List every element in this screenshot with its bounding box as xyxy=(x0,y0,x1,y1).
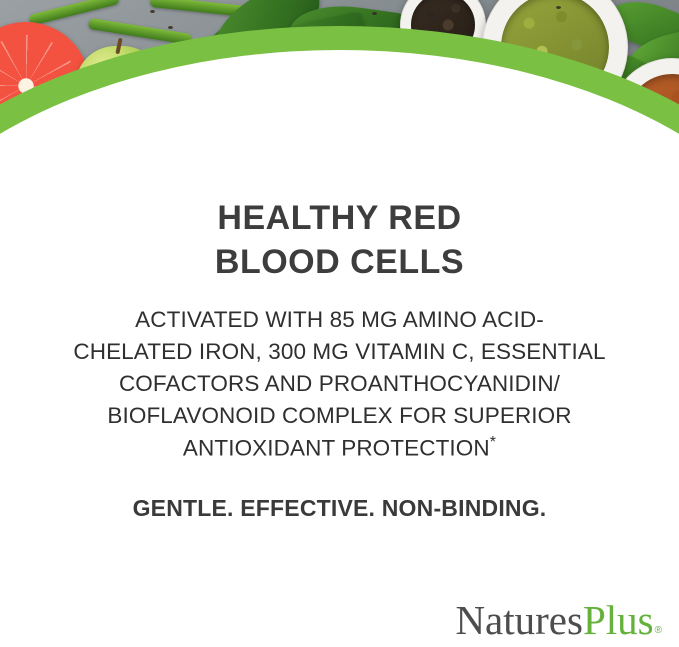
benefit-description: ACTIVATED WITH 85 MG AMINO ACID- CHELATE… xyxy=(30,304,650,464)
subcopy-line-3: COFACTORS AND PROANTHOCYANIDIN/ xyxy=(30,368,650,400)
logo-natures-text: Natures xyxy=(455,597,583,643)
subcopy-line-5: ANTIOXIDANT PROTECTION* xyxy=(30,432,650,464)
subcopy-line-5-text: ANTIOXIDANT PROTECTION xyxy=(183,436,490,461)
product-benefit-card: HEALTHY RED BLOOD CELLS ACTIVATED WITH 8… xyxy=(0,0,679,647)
page-title: HEALTHY RED BLOOD CELLS xyxy=(215,196,464,284)
headline-line-2: BLOOD CELLS xyxy=(215,240,464,284)
brand-logo[interactable]: NaturesPlus® xyxy=(455,600,661,641)
logo-plus-text: Plus xyxy=(583,597,654,643)
registered-trademark-icon: ® xyxy=(655,625,662,636)
text-content-area: HEALTHY RED BLOOD CELLS ACTIVATED WITH 8… xyxy=(0,0,679,647)
subcopy-line-4: BIOFLAVONOID COMPLEX FOR SUPERIOR xyxy=(30,400,650,432)
subcopy-line-1: ACTIVATED WITH 85 MG AMINO ACID- xyxy=(30,304,650,336)
subcopy-line-2: CHELATED IRON, 300 MG VITAMIN C, ESSENTI… xyxy=(30,336,650,368)
footnote-asterisk: * xyxy=(490,434,496,451)
headline-line-1: HEALTHY RED xyxy=(215,196,464,240)
tagline: GENTLE. EFFECTIVE. NON-BINDING. xyxy=(133,495,547,522)
